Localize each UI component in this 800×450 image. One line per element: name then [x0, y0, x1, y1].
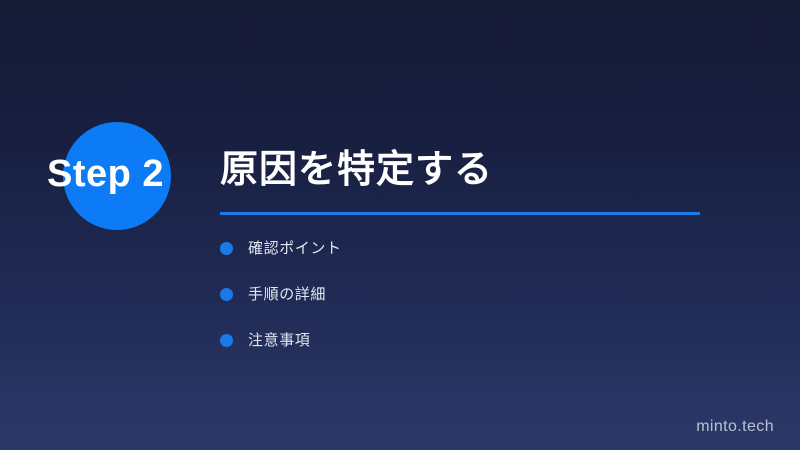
- list-item: 手順の詳細: [220, 284, 640, 305]
- step-badge: Step 2: [0, 118, 210, 236]
- list-item: 注意事項: [220, 330, 640, 351]
- list-item-label: 注意事項: [248, 330, 310, 351]
- footer-branding: minto.tech: [696, 418, 774, 436]
- bullet-dot-icon: [220, 242, 233, 255]
- step-number-label: Step 2: [47, 148, 207, 200]
- list-item: 確認ポイント: [220, 238, 640, 259]
- title-divider: [220, 212, 700, 215]
- bullet-dot-icon: [220, 334, 233, 347]
- title-block: 原因を特定する: [220, 146, 760, 215]
- list-item-label: 確認ポイント: [248, 238, 342, 259]
- bullet-list: 確認ポイント 手順の詳細 注意事項: [220, 238, 640, 376]
- list-item-label: 手順の詳細: [248, 284, 326, 305]
- slide-title: 原因を特定する: [220, 146, 760, 194]
- presentation-slide: Step 2 原因を特定する 確認ポイント 手順の詳細 注意事項 minto.t…: [0, 0, 800, 450]
- bullet-dot-icon: [220, 288, 233, 301]
